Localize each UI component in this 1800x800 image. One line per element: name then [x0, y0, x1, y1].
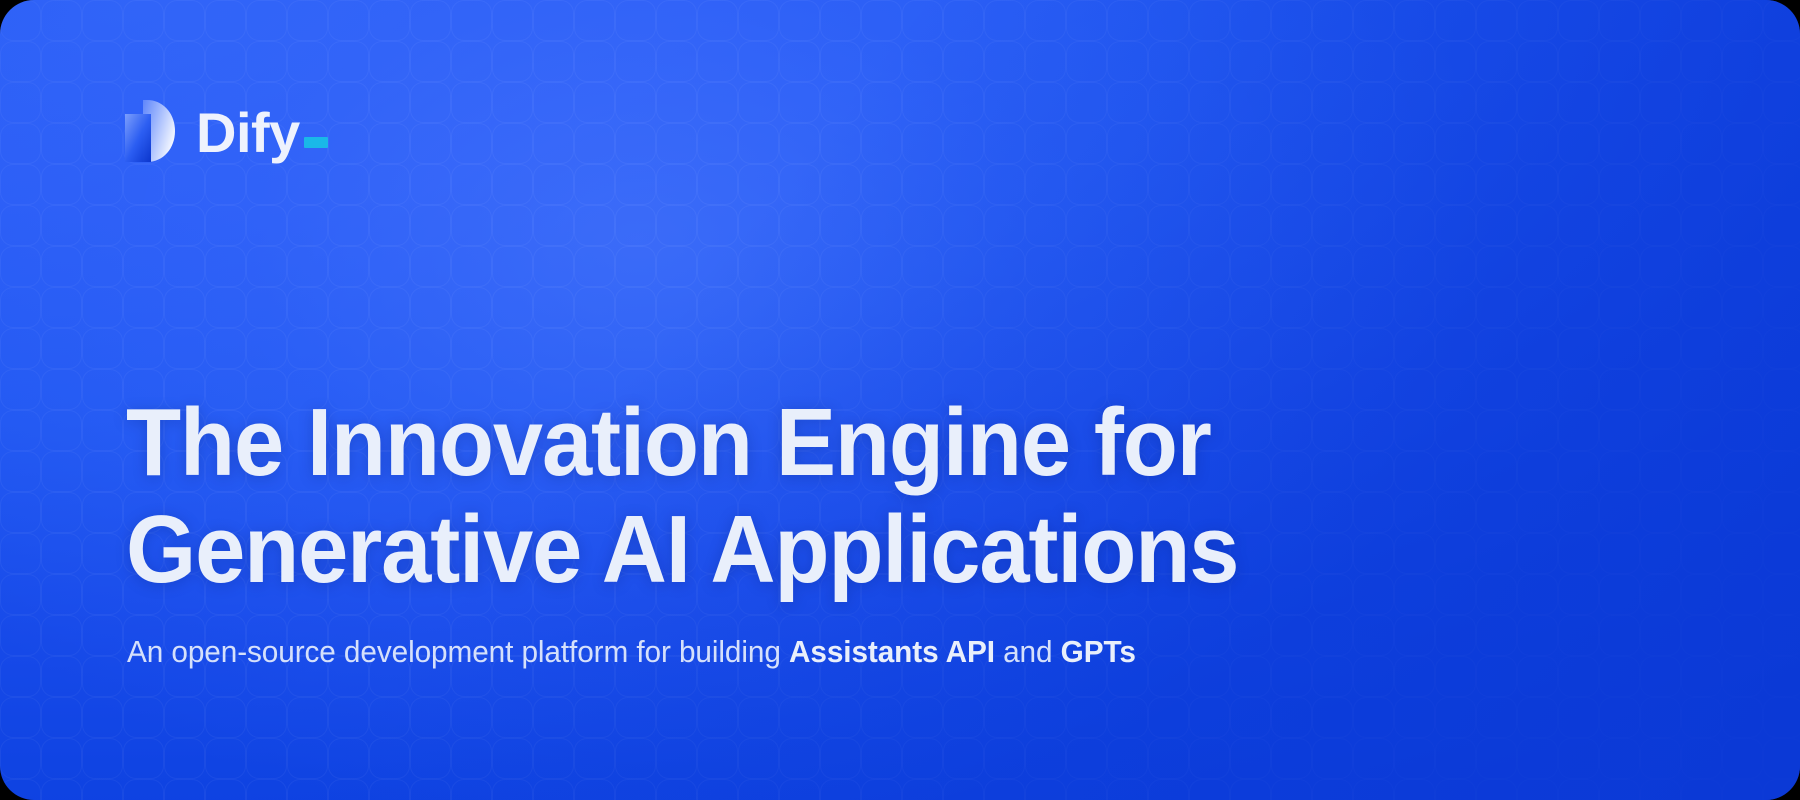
hero-subtitle-part-1: Assistants API: [789, 634, 995, 669]
hero-subtitle: An open-source development platform for …: [127, 634, 1136, 670]
brand-logo-lockup[interactable]: Dify: [125, 100, 332, 162]
hero-content: Dify The Innovation Engine for Generativ…: [0, 0, 1800, 800]
brand-wordmark-wrap: Dify: [196, 103, 332, 159]
hero-headline-line-1: The Innovation Engine for: [126, 390, 1238, 497]
brand-wordmark-text: Dify: [196, 105, 300, 161]
hero-subtitle-part-3: GPTs: [1061, 634, 1136, 669]
brand-accent-dash: [304, 137, 328, 148]
hero-subtitle-part-2: and: [995, 634, 1061, 669]
hero-headline-line-2: Generative AI Applications: [126, 497, 1238, 604]
hero-banner: Dify The Innovation Engine for Generativ…: [0, 0, 1800, 800]
dify-d-mark-icon: [125, 100, 175, 162]
hero-headline: The Innovation Engine for Generative AI …: [126, 390, 1238, 603]
hero-subtitle-part-0: An open-source development platform for …: [127, 634, 789, 669]
